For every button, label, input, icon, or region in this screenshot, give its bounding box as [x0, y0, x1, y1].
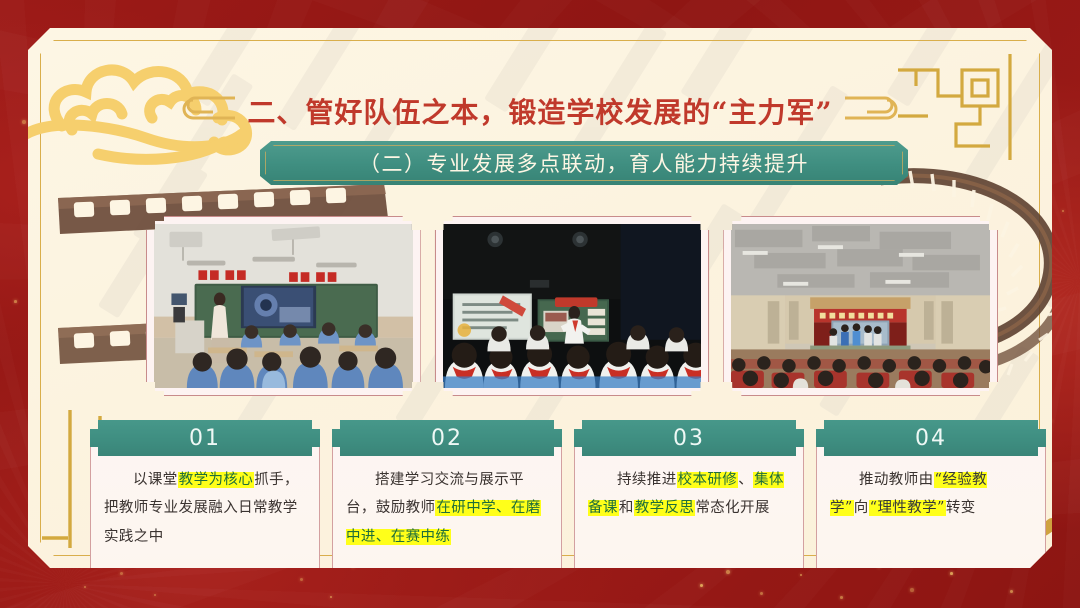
- gold-hook-left-icon: [179, 92, 237, 130]
- sparkle-dot: [950, 572, 953, 575]
- sparkle-dot: [120, 572, 123, 575]
- sparkle-dot: [154, 594, 156, 596]
- info-card-header: 03: [574, 420, 804, 456]
- body-text: 向: [854, 500, 869, 516]
- highlighted-text: 教学反思: [634, 500, 696, 516]
- body-text: 转变: [946, 500, 976, 516]
- sparkle-dot: [84, 586, 86, 588]
- info-card-text: 搭建学习交流与展示平台，鼓励教师在研中学、在磨中进、在赛中练: [332, 466, 562, 551]
- sparkle-dot: [1010, 590, 1013, 593]
- subtitle-text: （二）专业发展多点联动，育人能力持续提升: [260, 141, 908, 185]
- photo-auditorium-assembly: [731, 224, 990, 388]
- highlighted-text: 校本研修: [677, 472, 739, 488]
- sparkle-dot: [840, 596, 843, 599]
- watermark-stroke: [1034, 170, 1052, 309]
- sparkle-dot: [22, 120, 26, 124]
- info-card-number: 04: [915, 426, 947, 451]
- sparkle-dot: [910, 588, 914, 592]
- info-card-number: 01: [189, 426, 221, 451]
- sparkle-dot: [300, 578, 303, 581]
- header-row: 二、管好队伍之本，锻造学校发展的“主力军”: [28, 84, 1052, 138]
- photo-frame-3[interactable]: [723, 216, 998, 396]
- body-text: 持续推进: [617, 472, 677, 488]
- info-card-03[interactable]: 03持续推进校本研修、集体备课和教学反思常态化开展: [574, 420, 804, 568]
- info-card-04[interactable]: 04推动教师由“经验教学”向“理性教学”转变: [816, 420, 1046, 568]
- body-text: 和: [619, 500, 634, 516]
- highlighted-text: “理性教学”: [869, 500, 946, 516]
- info-card-text: 推动教师由“经验教学”向“理性教学”转变: [816, 466, 1046, 523]
- info-card-header: 01: [90, 420, 320, 456]
- info-card-text: 持续推进校本研修、集体备课和教学反思常态化开展: [574, 466, 804, 523]
- sparkle-dot: [700, 584, 703, 587]
- info-card-header: 02: [332, 420, 562, 456]
- sparkle-dot: [330, 596, 332, 598]
- slide-root: 二、管好队伍之本，锻造学校发展的“主力军” （二）专业发展多点联动，育人能力持续…: [0, 0, 1080, 608]
- gold-hook-right-icon: [843, 92, 901, 130]
- body-text: 以课堂: [133, 472, 178, 488]
- info-card-list: 01以课堂教学为核心抓手，把教师专业发展融入日常教学实践之中02搭建学习交流与展…: [90, 420, 1046, 568]
- info-card-02[interactable]: 02搭建学习交流与展示平台，鼓励教师在研中学、在磨中进、在赛中练: [332, 420, 562, 568]
- photo-classroom-lesson: [154, 224, 413, 388]
- photo-stage-demo-lesson: [443, 224, 702, 388]
- sparkle-dot: [14, 300, 17, 303]
- body-text: 常态化开展: [695, 500, 770, 516]
- highlighted-text: 教学为核心: [178, 472, 255, 488]
- content-panel: 二、管好队伍之本，锻造学校发展的“主力军” （二）专业发展多点联动，育人能力持续…: [28, 28, 1052, 568]
- sparkle-dot: [1062, 210, 1064, 212]
- photo-frame-1[interactable]: [146, 216, 421, 396]
- info-card-text: 以课堂教学为核心抓手，把教师专业发展融入日常教学实践之中: [90, 466, 320, 551]
- sparkle-dot: [760, 592, 763, 595]
- photo-frame-2[interactable]: [435, 216, 710, 396]
- sparkle-dot: [726, 570, 730, 574]
- photo-gallery: [146, 216, 998, 396]
- subtitle-banner: （二）专业发展多点联动，育人能力持续提升: [260, 141, 908, 185]
- info-card-number: 03: [673, 426, 705, 451]
- body-text: 推动教师由: [859, 472, 934, 488]
- info-card-number: 02: [431, 426, 463, 451]
- info-card-header: 04: [816, 420, 1046, 456]
- info-card-01[interactable]: 01以课堂教学为核心抓手，把教师专业发展融入日常教学实践之中: [90, 420, 320, 568]
- body-text: 、: [738, 472, 753, 488]
- sparkle-dot: [800, 574, 802, 576]
- page-title: 二、管好队伍之本，锻造学校发展的“主力军”: [247, 91, 832, 131]
